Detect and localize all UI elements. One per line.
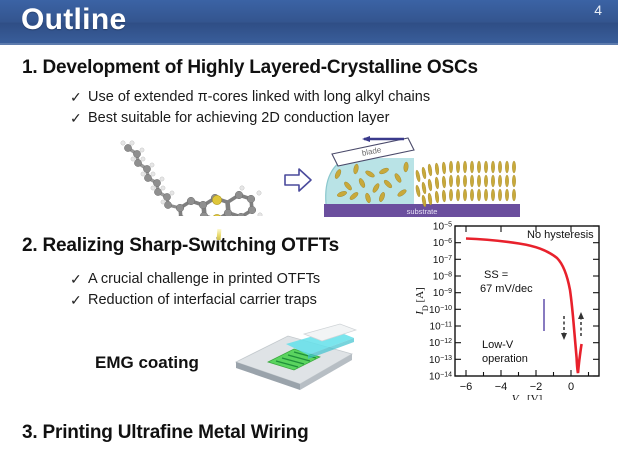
slide: Outline 4 1. Development of Highly Layer…: [0, 0, 618, 460]
x-axis-label: VG [V]: [512, 393, 543, 400]
emg-device-illustration: [228, 322, 358, 394]
blade-coating-figure: substrate: [318, 136, 526, 222]
annotation-ss: SS =: [484, 269, 508, 281]
annotation-operation: operation: [482, 353, 528, 365]
svg-text:−4: −4: [495, 381, 508, 393]
svg-text:−6: −6: [460, 381, 473, 393]
list-item-label: Reduction of interfacial carrier traps: [88, 291, 317, 310]
page-number: 4: [594, 2, 602, 18]
substrate-label: substrate: [407, 207, 438, 216]
svg-text:10−13: 10−13: [429, 354, 452, 366]
section-1-heading: 1. Development of Highly Layered-Crystal…: [22, 57, 478, 79]
svg-text:0: 0: [568, 381, 574, 393]
annotation-no-hysteresis: No hysteresis: [527, 229, 594, 241]
y-tick-labels: 10−5 10−6 10−7 10−8 10−9 10−10 10−11 10−…: [429, 221, 452, 383]
x-tick-labels: −6 −4 −2 0: [460, 381, 574, 393]
molecule-icon: [118, 138, 278, 216]
molecule-figure: [118, 138, 278, 216]
list-item: ✓ Reduction of interfacial carrier traps: [70, 291, 320, 310]
emg-coating-label: EMG coating: [95, 353, 199, 373]
svg-text:10−12: 10−12: [429, 338, 452, 350]
svg-text:10−6: 10−6: [433, 238, 452, 250]
checkmark-icon: ✓: [70, 109, 88, 128]
transfer-curve-chart: 10−5 10−6 10−7 10−8 10−9 10−10 10−11 10−…: [409, 216, 615, 400]
list-item-label: Best suitable for achieving 2D conductio…: [88, 109, 389, 128]
transition-arrow: [283, 166, 313, 194]
cursor-artifact: [217, 229, 222, 240]
list-item: ✓ Best suitable for achieving 2D conduct…: [70, 109, 430, 128]
svg-text:10−9: 10−9: [433, 288, 452, 300]
list-item: ✓ Use of extended π-cores linked with lo…: [70, 88, 430, 107]
annotation-lowv: Low-V: [482, 339, 514, 351]
svg-text:10−10: 10−10: [429, 304, 452, 316]
section-1-bullets: ✓ Use of extended π-cores linked with lo…: [70, 88, 430, 130]
section-3-heading: 3. Printing Ultrafine Metal Wiring: [22, 422, 309, 444]
right-block-arrow-icon: [283, 166, 313, 194]
emg-device-figure: [228, 322, 358, 394]
svg-text:10−7: 10−7: [433, 254, 452, 265]
svg-text:−2: −2: [530, 381, 543, 393]
page-title: Outline: [21, 3, 126, 37]
checkmark-icon: ✓: [70, 88, 88, 107]
blade-coating-illustration: substrate: [318, 136, 526, 222]
svg-text:10−8: 10−8: [433, 271, 452, 283]
list-item-label: Use of extended π-cores linked with long…: [88, 88, 430, 107]
checkmark-icon: ✓: [70, 291, 88, 310]
y-axis-label: ID [A]: [414, 287, 430, 315]
svg-text:10−5: 10−5: [433, 221, 452, 233]
checkmark-icon: ✓: [70, 270, 88, 289]
svg-text:10−14: 10−14: [429, 371, 452, 383]
section-2-bullets: ✓ A crucial challenge in printed OTFTs ✓…: [70, 270, 320, 312]
slide-title-bar: Outline 4: [0, 0, 618, 45]
annotation-ss-value: 67 mV/dec: [480, 283, 533, 295]
svg-text:10−11: 10−11: [430, 321, 453, 333]
list-item: ✓ A crucial challenge in printed OTFTs: [70, 270, 320, 289]
list-item-label: A crucial challenge in printed OTFTs: [88, 270, 320, 289]
chart-svg: 10−5 10−6 10−7 10−8 10−9 10−10 10−11 10−…: [409, 216, 615, 400]
section-2-heading: 2. Realizing Sharp-Switching OTFTs: [22, 235, 339, 257]
